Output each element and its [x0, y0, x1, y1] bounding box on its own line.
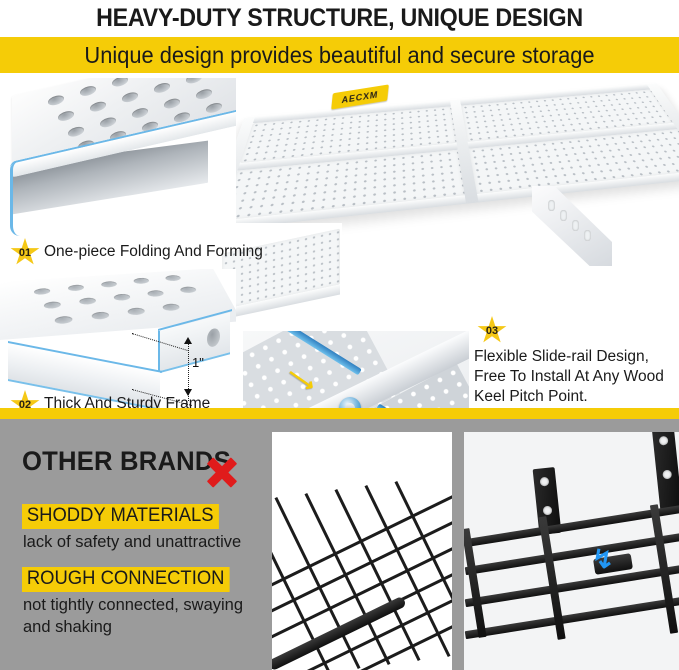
section-divider: [0, 408, 679, 419]
feature-badge-03: 03: [477, 316, 507, 345]
shelf-deck: [236, 83, 679, 231]
photo-frame-thickness: 1": [0, 269, 236, 411]
comparison-point-title-1: SHODDY MATERIALS: [22, 504, 218, 529]
comparison-point-detail-1: lack of safety and unattractive: [23, 531, 256, 553]
mounting-plate-right: [652, 432, 679, 511]
comparison-point-detail-2: not tightly connected, swaying and shaki…: [23, 594, 256, 638]
channel-left-fold: [10, 162, 26, 236]
blue-connection-arrow-icon: ↯: [592, 544, 614, 575]
page-title: HEAVY-DUTY STRUCTURE, UNIQUE DESIGN: [24, 2, 655, 34]
feature-number-03: 03: [477, 325, 507, 337]
feature-label-01: One-piece Folding And Forming: [44, 243, 263, 261]
photo-competitor-bar-frame: ↯: [464, 432, 679, 670]
dimension-label: 1": [192, 355, 204, 370]
features-section: AECXM: [0, 73, 679, 408]
photo-folded-channel-edge: [0, 78, 236, 238]
support-bracket: [532, 186, 612, 266]
dimension-leader-top: [132, 333, 188, 351]
photo-shelf-underside-thumb: [222, 223, 342, 328]
wire-mesh-grid: [272, 432, 452, 670]
product-infographic: HEAVY-DUTY STRUCTURE, UNIQUE DESIGN Uniq…: [0, 0, 679, 670]
feature-number-01: 01: [10, 247, 40, 259]
header-band: Unique design provides beautiful and sec…: [0, 37, 679, 73]
feature-badge-01: 01: [10, 238, 40, 267]
feature-label-03: Flexible Slide-rail Design, Free To Inst…: [474, 347, 674, 407]
comparison-point-title-2: ROUGH CONNECTION: [22, 567, 229, 592]
comparison-section: OTHER BRANDS SHODDY MATERIALS lack of sa…: [0, 419, 679, 670]
page-subtitle: Unique design provides beautiful and sec…: [17, 37, 662, 73]
red-x-icon: [199, 452, 243, 492]
dimension-arrow-up-icon: [184, 337, 192, 344]
photo-competitor-wire-mesh: [272, 432, 452, 670]
